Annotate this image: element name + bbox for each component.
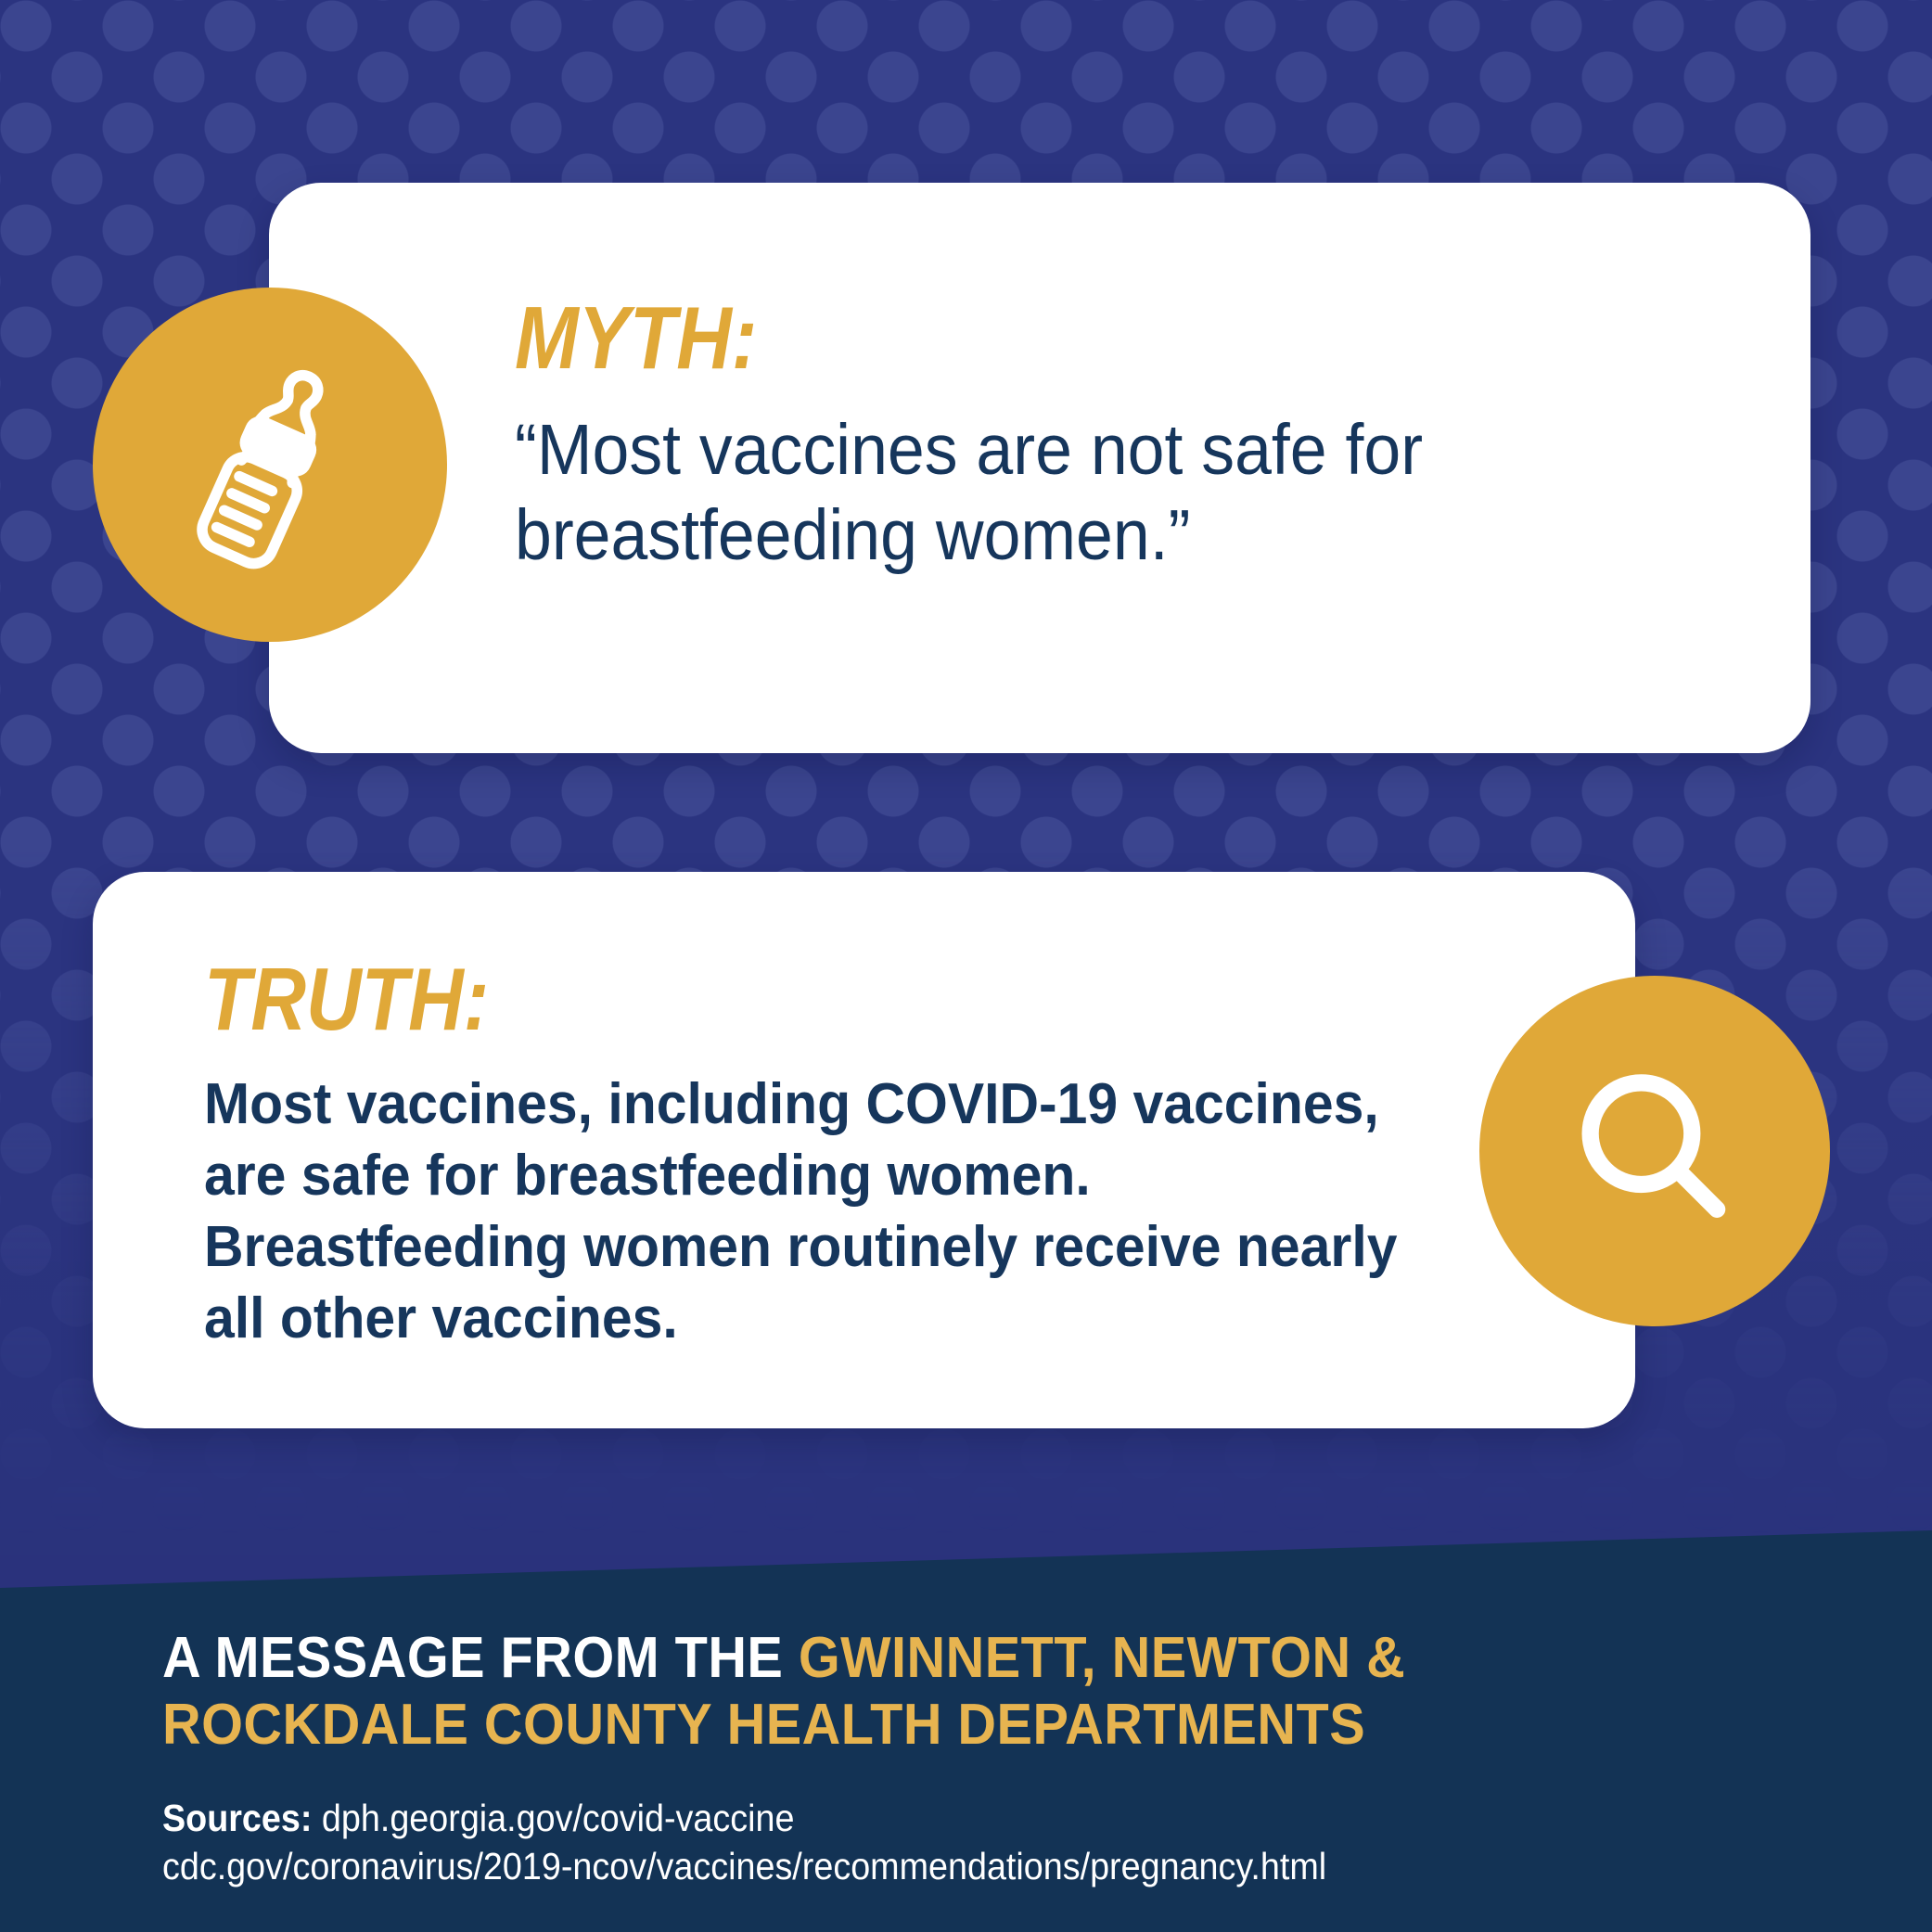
- baby-bottle-badge: [93, 288, 447, 642]
- truth-card-body: TRUTH: Most vaccines, including COVID-19…: [204, 955, 1503, 1354]
- footer-headline: A MESSAGE FROM THE GWINNETT, NEWTON & RO…: [162, 1625, 1715, 1759]
- truth-statement-text: Most vaccines, including COVID-19 vaccin…: [204, 1068, 1438, 1354]
- myth-kicker: MYTH:: [515, 294, 1567, 383]
- footer-headline-prefix: A MESSAGE FROM THE: [162, 1626, 799, 1690]
- magnifying-glass-icon: [1555, 1052, 1755, 1251]
- sources-line-1: Sources: dph.georgia.gov/covid-vaccine: [162, 1794, 1698, 1842]
- source-url-1[interactable]: dph.georgia.gov/covid-vaccine: [322, 1797, 795, 1839]
- baby-bottle-icon: [154, 349, 386, 581]
- myth-quote-text: “Most vaccines are not safe for breastfe…: [515, 407, 1654, 578]
- sources-label: Sources:: [162, 1797, 312, 1839]
- truth-kicker: TRUTH:: [204, 955, 1321, 1044]
- sources-line-2: cdc.gov/coronavirus/2019-ncov/vaccines/r…: [162, 1842, 1698, 1890]
- myth-card-body: MYTH: “Most vaccines are not safe for br…: [515, 294, 1739, 578]
- magnifier-badge: [1479, 976, 1830, 1326]
- source-url-2[interactable]: cdc.gov/coronavirus/2019-ncov/vaccines/r…: [162, 1845, 1326, 1887]
- truth-card: TRUTH: Most vaccines, including COVID-19…: [93, 872, 1635, 1428]
- myth-card: MYTH: “Most vaccines are not safe for br…: [269, 183, 1810, 753]
- footer-sources: Sources: dph.georgia.gov/covid-vaccine c…: [162, 1794, 1698, 1890]
- infographic-poster: MYTH: “Most vaccines are not safe for br…: [0, 0, 1932, 1932]
- footer-content: A MESSAGE FROM THE GWINNETT, NEWTON & RO…: [162, 1625, 1832, 1890]
